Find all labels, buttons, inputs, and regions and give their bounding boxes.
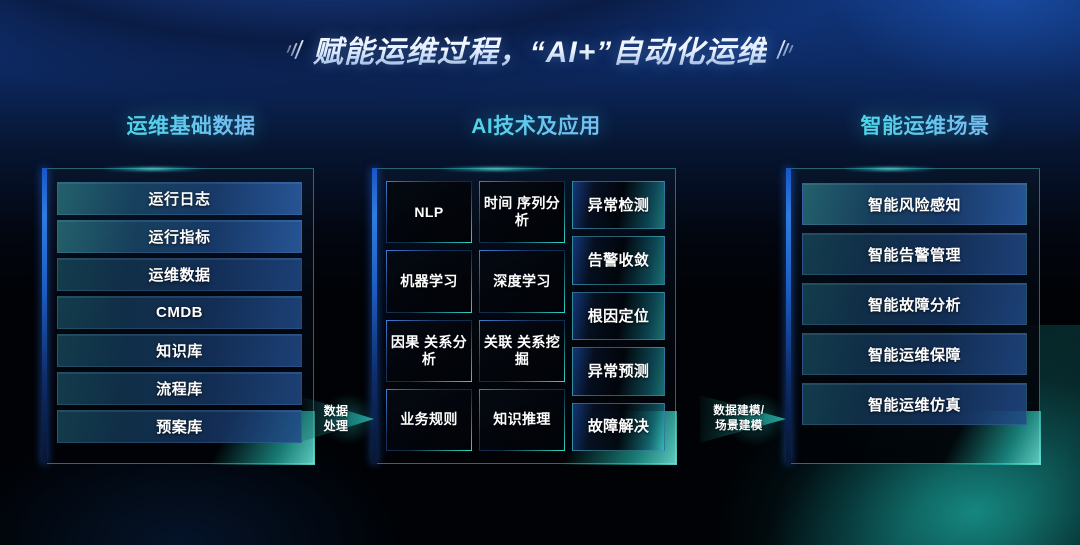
arrow-label: 数据建模/ 场景建模 bbox=[713, 404, 764, 434]
arrow-label: 数据 处理 bbox=[324, 404, 349, 434]
application-box[interactable]: 异常检测 bbox=[572, 181, 665, 229]
middle-grid: NLP 机器学习 因果 关系分析 业务规则 时间 序列分析 深度学习 关联 关系… bbox=[386, 181, 665, 451]
application-box[interactable]: 告警收敛 bbox=[572, 236, 665, 284]
application-box[interactable]: 根因定位 bbox=[572, 292, 665, 340]
column-heading-right: 智能运维场景 bbox=[790, 112, 1060, 142]
list-item[interactable]: 运维数据 bbox=[57, 258, 302, 291]
title-left-decoration-icon bbox=[288, 40, 300, 59]
flow-arrow-data-modeling: 数据建模/ 场景建模 bbox=[700, 384, 786, 454]
panel-top-glow-left bbox=[105, 165, 255, 173]
list-item[interactable]: 智能运维仿真 bbox=[802, 383, 1027, 425]
right-item-list: 智能风险感知 智能告警管理 智能故障分析 智能运维保障 智能运维仿真 bbox=[802, 183, 1027, 425]
tech-subcolumn-1: NLP 机器学习 因果 关系分析 业务规则 bbox=[386, 181, 472, 451]
application-subcolumn: 异常检测 告警收敛 根因定位 异常预测 故障解决 bbox=[572, 181, 665, 451]
panel-middle: NLP 机器学习 因果 关系分析 业务规则 时间 序列分析 深度学习 关联 关系… bbox=[376, 168, 676, 464]
column-aiops-scenarios: 智能运维场景 智能风险感知 智能告警管理 智能故障分析 智能运维保障 智能运维仿… bbox=[790, 112, 1060, 464]
column-ops-base-data: 运维基础数据 运行日志 运行指标 运维数据 CMDB 知识库 流程库 预案库 bbox=[46, 112, 336, 464]
list-item[interactable]: CMDB bbox=[57, 296, 302, 329]
tech-box[interactable]: NLP bbox=[386, 181, 472, 243]
column-heading-middle: AI技术及应用 bbox=[376, 112, 696, 142]
tech-subcolumn-2: 时间 序列分析 深度学习 关联 关系挖掘 知识推理 bbox=[479, 181, 565, 451]
list-item[interactable]: 预案库 bbox=[57, 410, 302, 443]
page-title: 赋能运维过程，“AI+”自动化运维 bbox=[313, 27, 768, 71]
tech-box[interactable]: 深度学习 bbox=[479, 250, 565, 312]
slide-title-bar: 赋能运维过程，“AI+”自动化运维 bbox=[0, 27, 1080, 71]
list-item[interactable]: 运行指标 bbox=[57, 220, 302, 253]
tech-box[interactable]: 时间 序列分析 bbox=[479, 181, 565, 243]
left-item-list: 运行日志 运行指标 运维数据 CMDB 知识库 流程库 预案库 bbox=[57, 182, 302, 443]
tech-box[interactable]: 因果 关系分析 bbox=[386, 320, 472, 382]
panel-right: 智能风险感知 智能告警管理 智能故障分析 智能运维保障 智能运维仿真 bbox=[790, 168, 1040, 464]
diagram-columns: 运维基础数据 运行日志 运行指标 运维数据 CMDB 知识库 流程库 预案库 A… bbox=[0, 112, 1080, 492]
tech-box[interactable]: 关联 关系挖掘 bbox=[479, 320, 565, 382]
tech-box[interactable]: 机器学习 bbox=[386, 250, 472, 312]
application-box[interactable]: 异常预测 bbox=[572, 347, 665, 395]
application-box[interactable]: 故障解决 bbox=[572, 403, 665, 451]
panel-left: 运行日志 运行指标 运维数据 CMDB 知识库 流程库 预案库 bbox=[46, 168, 314, 464]
list-item[interactable]: 运行日志 bbox=[57, 182, 302, 215]
column-heading-left: 运维基础数据 bbox=[46, 112, 336, 142]
panel-top-glow-middle bbox=[442, 165, 609, 173]
column-ai-tech: AI技术及应用 NLP 机器学习 因果 关系分析 业务规则 时间 序列分析 深度… bbox=[376, 112, 696, 464]
list-item[interactable]: 流程库 bbox=[57, 372, 302, 405]
flow-arrow-data-processing: 数据 处理 bbox=[302, 386, 374, 452]
title-right-decoration-icon bbox=[780, 40, 792, 59]
list-item[interactable]: 智能运维保障 bbox=[802, 333, 1027, 375]
list-item[interactable]: 智能告警管理 bbox=[802, 233, 1027, 275]
list-item[interactable]: 智能风险感知 bbox=[802, 183, 1027, 225]
tech-box[interactable]: 知识推理 bbox=[479, 389, 565, 451]
tech-box[interactable]: 业务规则 bbox=[386, 389, 472, 451]
slide-canvas: 赋能运维过程，“AI+”自动化运维 运维基础数据 运行日志 运行指标 运维数据 … bbox=[0, 0, 1080, 545]
list-item[interactable]: 知识库 bbox=[57, 334, 302, 367]
panel-top-glow-right bbox=[845, 165, 984, 173]
list-item[interactable]: 智能故障分析 bbox=[802, 283, 1027, 325]
